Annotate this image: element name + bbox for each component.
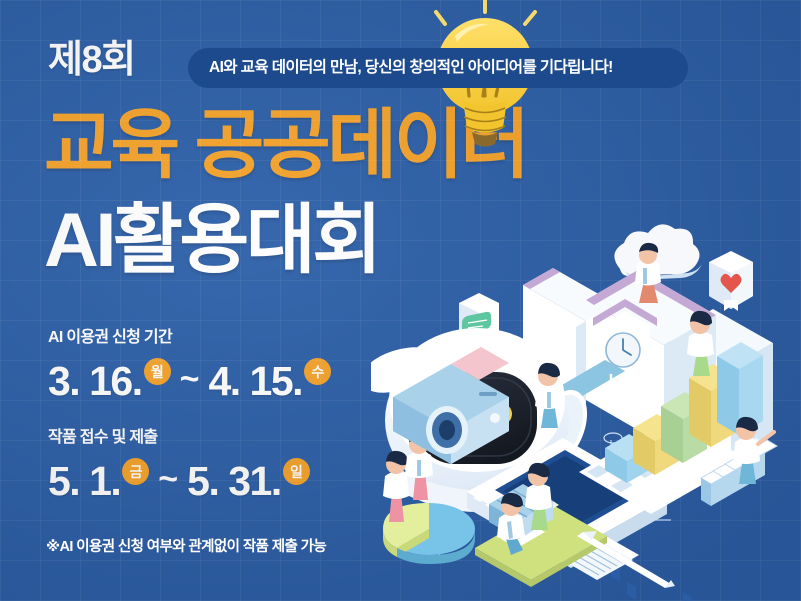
edition-row: 제8회 — [48, 36, 135, 84]
book-heart-icon — [709, 251, 753, 311]
end-date: 5. 31. — [187, 461, 281, 502]
end-day-badge: 일 — [283, 458, 310, 485]
start-day-badge: 금 — [122, 458, 149, 485]
footnote-text: ※AI 이용권 신청 여부와 관계없이 작품 제출 가능 — [46, 535, 326, 556]
date-separator: ~ — [180, 362, 200, 396]
schedule-label: AI 이용권 신청 기간 — [48, 330, 332, 346]
schedule-label: 작품 접수 및 제출 — [48, 430, 311, 446]
schedule-block-submission: 작품 접수 및 제출 5. 1. 금 ~ 5. 31. 일 — [48, 430, 311, 502]
title-line-2: AI활용대회 — [44, 203, 379, 279]
illustration-artwork — [371, 0, 801, 601]
start-day-badge: 월 — [144, 358, 171, 385]
end-day-badge: 수 — [304, 358, 331, 385]
event-poster: 제8회 AI와 교육 데이터의 만남, 당신의 창의적인 아이디어를 기다립니다… — [0, 0, 801, 601]
start-date: 3. 16. — [48, 361, 142, 402]
illustration-panel — [371, 0, 801, 601]
schedule-dates: 5. 1. 금 ~ 5. 31. 일 — [48, 456, 311, 502]
clock-icon — [606, 333, 640, 367]
tagline-banner: AI와 교육 데이터의 만남, 당신의 창의적인 아이디어를 기다립니다! — [188, 48, 688, 88]
edition-label: 제8회 — [48, 41, 135, 79]
end-date: 4. 15. — [208, 361, 302, 402]
date-separator: ~ — [158, 462, 178, 496]
schedule-dates: 3. 16. 월 ~ 4. 15. 수 — [48, 356, 332, 402]
schedule-block-application: AI 이용권 신청 기간 3. 16. 월 ~ 4. 15. 수 — [48, 330, 332, 402]
tagline-text: AI와 교육 데이터의 만남, 당신의 창의적인 아이디어를 기다립니다! — [209, 60, 613, 76]
start-date: 5. 1. — [48, 461, 120, 502]
